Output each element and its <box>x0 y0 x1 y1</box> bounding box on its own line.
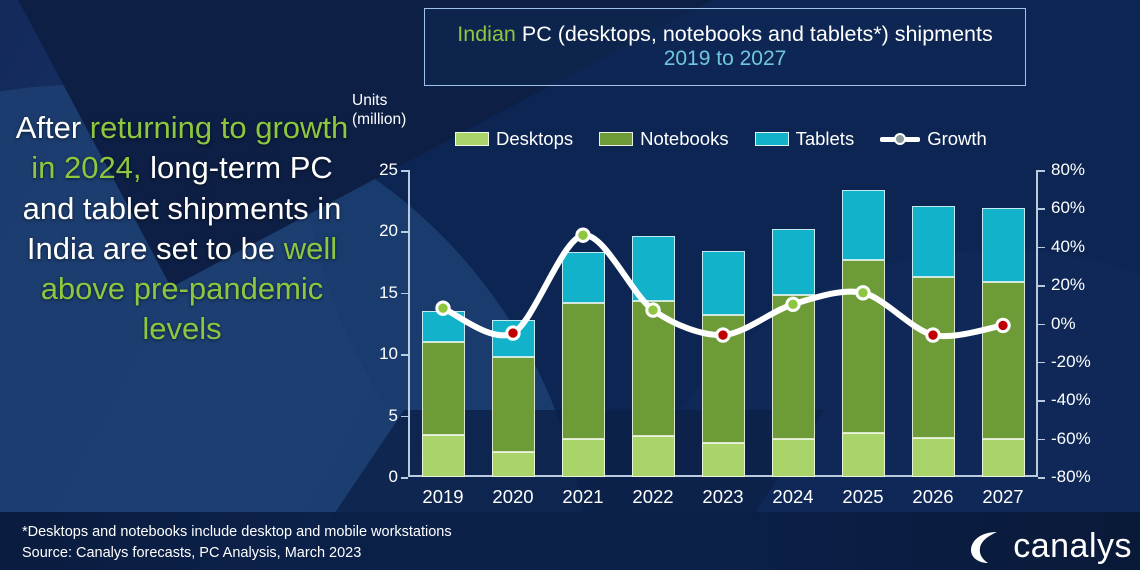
canalys-logo-text: canalys <box>1013 527 1132 566</box>
bar-segment-notebooks[interactable] <box>842 260 885 433</box>
y-axis-left-tick-label: 15 <box>338 283 398 303</box>
y-axis-left-tick <box>401 231 408 233</box>
bar-group-2021[interactable] <box>562 170 605 477</box>
bar-segment-tablets[interactable] <box>422 311 465 342</box>
y-axis-title: Units (million) <box>352 92 430 130</box>
y-axis-right-tick <box>1038 170 1045 172</box>
y-axis-title-line-2: (million) <box>352 111 430 130</box>
y-axis-left-tick-label: 0 <box>338 467 398 487</box>
bar-group-2019[interactable] <box>422 170 465 477</box>
canalys-swoosh-icon <box>967 526 1007 566</box>
y-axis-right-tick-label: 20% <box>1051 275 1085 295</box>
footnote-asterisk: *Desktops and notebooks include desktop … <box>22 522 452 543</box>
y-axis-right-tick <box>1038 247 1045 249</box>
bar-segment-desktops[interactable] <box>772 439 815 477</box>
y-axis-right-tick <box>1038 208 1045 210</box>
y-axis-right-tick-label: -80% <box>1051 467 1091 487</box>
bar-segment-tablets[interactable] <box>632 236 675 301</box>
bar-segment-desktops[interactable] <box>702 443 745 477</box>
y-axis-left-tick <box>401 354 408 356</box>
bar-segment-notebooks[interactable] <box>562 303 605 439</box>
bar-segment-desktops[interactable] <box>912 438 955 477</box>
canalys-logo: canalys <box>967 526 1132 566</box>
y-axis-left-tick-label: 25 <box>338 160 398 180</box>
chart-title-line-1: Indian PC (desktops, notebooks and table… <box>457 22 992 47</box>
y-axis-right-tick <box>1038 400 1045 402</box>
chart-title-subtitle: 2019 to 2027 <box>664 47 787 72</box>
y-axis-left-tick-label: 10 <box>338 344 398 364</box>
bar-segment-tablets[interactable] <box>702 251 745 315</box>
bar-group-2022[interactable] <box>632 170 675 477</box>
bar-group-2025[interactable] <box>842 170 885 477</box>
bar-segment-tablets[interactable] <box>912 206 955 277</box>
y-axis-left-tick <box>401 293 408 295</box>
y-axis-right-tick-label: 60% <box>1051 198 1085 218</box>
x-axis-label-2022: 2022 <box>618 486 688 508</box>
y-axis-right-tick-label: 0% <box>1051 314 1076 334</box>
x-axis-label-2019: 2019 <box>408 486 478 508</box>
y-axis-right-tick-label: 40% <box>1051 237 1085 257</box>
x-axis-label-2027: 2027 <box>968 486 1038 508</box>
y-axis-left-tick-label: 5 <box>338 406 398 426</box>
y-axis-right-tick <box>1038 439 1045 441</box>
y-axis-right-tick-label: -60% <box>1051 429 1091 449</box>
bar-segment-tablets[interactable] <box>492 320 535 357</box>
infographic-slide: Indian PC (desktops, notebooks and table… <box>0 0 1140 570</box>
headline-part-1: After <box>16 110 90 145</box>
x-axis-label-2020: 2020 <box>478 486 548 508</box>
bar-segment-desktops[interactable] <box>492 452 535 477</box>
y-axis-right-tick-label: -20% <box>1051 352 1091 372</box>
footer-notes: *Desktops and notebooks include desktop … <box>22 522 452 564</box>
x-axis-label-2025: 2025 <box>828 486 898 508</box>
footnote-source: Source: Canalys forecasts, PC Analysis, … <box>22 543 452 564</box>
bar-segment-tablets[interactable] <box>842 190 885 260</box>
bar-segment-desktops[interactable] <box>422 435 465 477</box>
x-axis-label-2026: 2026 <box>898 486 968 508</box>
headline-text: After returning to growth in 2024, long-… <box>14 108 350 350</box>
y-axis-right-tick <box>1038 362 1045 364</box>
bar-group-2020[interactable] <box>492 170 535 477</box>
y-axis-right-tick <box>1038 324 1045 326</box>
bar-segment-desktops[interactable] <box>982 439 1025 477</box>
y-axis-right-tick-label: 80% <box>1051 160 1085 180</box>
bar-segment-notebooks[interactable] <box>422 342 465 435</box>
bar-segment-tablets[interactable] <box>562 252 605 302</box>
bar-segment-desktops[interactable] <box>562 439 605 477</box>
bar-group-2027[interactable] <box>982 170 1025 477</box>
chart-title-box: Indian PC (desktops, notebooks and table… <box>424 8 1026 86</box>
x-axis-label-2023: 2023 <box>688 486 758 508</box>
y-axis-left-tick <box>401 416 408 418</box>
chart-title-highlight: Indian <box>457 22 516 46</box>
bar-segment-notebooks[interactable] <box>982 282 1025 439</box>
x-axis-label-2021: 2021 <box>548 486 618 508</box>
y-axis-title-line-1: Units <box>352 92 430 111</box>
y-axis-right-tick <box>1038 285 1045 287</box>
y-axis-left-tick-label: 20 <box>338 221 398 241</box>
y-axis-right-tick-label: -40% <box>1051 390 1091 410</box>
bar-segment-notebooks[interactable] <box>912 277 955 438</box>
plot-area: 2520151050 80%60%40%20%0%-20%-40%-60%-80… <box>408 170 1038 477</box>
bar-segment-tablets[interactable] <box>982 208 1025 282</box>
bar-segment-notebooks[interactable] <box>702 315 745 443</box>
bar-group-2023[interactable] <box>702 170 745 477</box>
bar-segment-notebooks[interactable] <box>772 295 815 439</box>
bar-segment-desktops[interactable] <box>842 433 885 477</box>
bar-group-2024[interactable] <box>772 170 815 477</box>
y-axis-left-tick <box>401 170 408 172</box>
y-axis-left-tick <box>401 477 408 479</box>
bar-segment-notebooks[interactable] <box>632 301 675 436</box>
chart-area: Units (million) 2520151050 80%60%40%20%0… <box>352 92 1112 512</box>
bar-segment-desktops[interactable] <box>632 436 675 477</box>
x-axis-label-2024: 2024 <box>758 486 828 508</box>
bar-segment-notebooks[interactable] <box>492 357 535 453</box>
chart-title-rest: PC (desktops, notebooks and tablets*) sh… <box>516 22 993 46</box>
bar-group-2026[interactable] <box>912 170 955 477</box>
y-axis-right-tick <box>1038 477 1045 479</box>
bar-series-container <box>408 170 1038 477</box>
bar-segment-tablets[interactable] <box>772 229 815 295</box>
